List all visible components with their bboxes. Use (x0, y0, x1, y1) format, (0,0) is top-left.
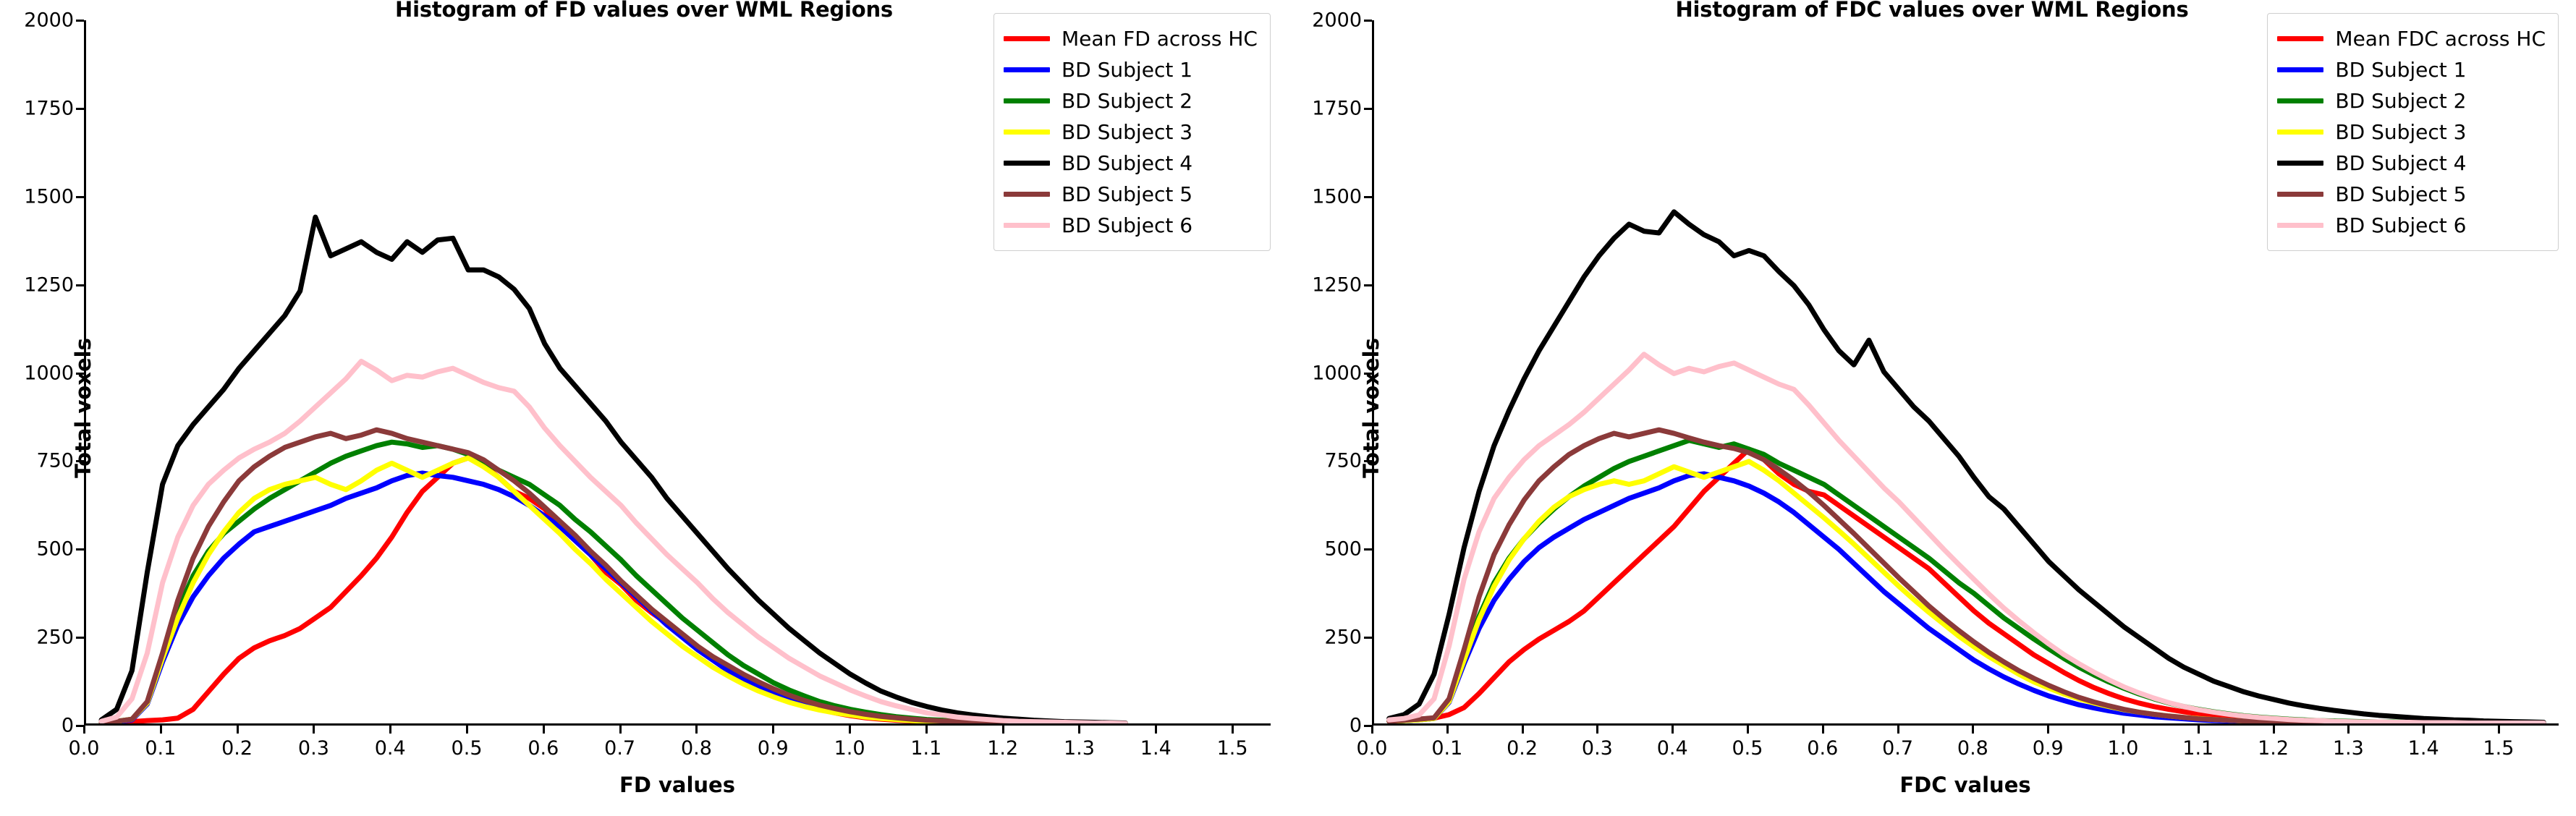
legend-item-label: Mean FDC across HC (2335, 27, 2546, 51)
legend-item[interactable]: BD Subject 6 (2277, 210, 2546, 241)
y-tick-mark (76, 637, 84, 639)
y-tick-mark (76, 196, 84, 198)
legend-swatch-icon (1004, 161, 1050, 166)
y-tick-label: 1250 (1312, 273, 1362, 296)
series-line (1389, 462, 2544, 723)
x-tick-label: 1.1 (910, 737, 941, 760)
x-tick-label: 1.1 (2182, 737, 2213, 760)
series-line (101, 361, 1125, 723)
y-tick-label: 250 (36, 626, 74, 649)
x-tick-label: 0.0 (1357, 737, 1388, 760)
x-tick-label: 0.4 (375, 737, 406, 760)
legend-item[interactable]: BD Subject 3 (2277, 116, 2546, 148)
x-tick-mark (83, 726, 85, 734)
legend-item-label: Mean FD across HC (1062, 27, 1258, 51)
y-tick-mark (1364, 373, 1372, 375)
x-tick-label: 0.5 (452, 737, 483, 760)
y-tick-label: 0 (1350, 715, 1362, 737)
legend-swatch-icon (2277, 129, 2323, 135)
legend-item-label: BD Subject 4 (1062, 151, 1192, 175)
legend-item[interactable]: BD Subject 5 (1004, 179, 1258, 210)
series-line (1389, 212, 2544, 723)
x-tick-mark (1371, 726, 1373, 734)
x-tick-label: 0.8 (681, 737, 712, 760)
legend-swatch-icon (2277, 161, 2323, 166)
y-tick-mark (76, 284, 84, 286)
x-tick-mark (1522, 726, 1524, 734)
x-tick-label: 0.6 (1807, 737, 1838, 760)
y-tick-mark (1364, 20, 1372, 22)
x-tick-mark (466, 726, 468, 734)
x-tick-label: 1.2 (987, 737, 1018, 760)
x-tick-mark (1822, 726, 1824, 734)
legend-item-label: BD Subject 3 (1062, 120, 1192, 144)
y-tick-mark (1364, 460, 1372, 462)
legend-item-label: BD Subject 1 (2335, 58, 2466, 82)
x-tick-mark (2498, 726, 2500, 734)
x-tick-mark (849, 726, 851, 734)
y-tick-mark (76, 108, 84, 110)
legend-item-label: BD Subject 3 (2335, 120, 2466, 144)
x-tick-mark (2273, 726, 2275, 734)
x-tick-mark (1155, 726, 1157, 734)
x-tick-mark (2198, 726, 2200, 734)
x-tick-mark (389, 726, 391, 734)
y-tick-label: 250 (1324, 626, 1362, 649)
y-tick-mark (1364, 196, 1372, 198)
legend-swatch-icon (2277, 223, 2323, 228)
x-tick-mark (1078, 726, 1080, 734)
x-tick-label: 0.3 (1582, 737, 1613, 760)
x-tick-mark (619, 726, 622, 734)
x-tick-label: 1.5 (1217, 737, 1248, 760)
legend-item-label: BD Subject 4 (2335, 151, 2466, 175)
legend-item-label: BD Subject 2 (2335, 89, 2466, 113)
y-tick-label: 1500 (24, 185, 74, 208)
legend-item[interactable]: BD Subject 1 (2277, 54, 2546, 85)
x-tick-mark (2347, 726, 2350, 734)
x-tick-mark (695, 726, 698, 734)
x-tick-mark (1232, 726, 1234, 734)
x-tick-label: 0.7 (1882, 737, 1913, 760)
x-tick-mark (1897, 726, 1899, 734)
x-tick-label: 0.3 (298, 737, 329, 760)
x-tick-label: 0.7 (604, 737, 635, 760)
y-tick-label: 0 (62, 715, 74, 737)
x-tick-label: 1.2 (2258, 737, 2289, 760)
x-tick-label: 1.4 (2408, 737, 2439, 760)
legend-item[interactable]: BD Subject 6 (1004, 210, 1258, 241)
x-tick-mark (1972, 726, 1974, 734)
y-tick-mark (76, 20, 84, 22)
legend-item-label: BD Subject 1 (1062, 58, 1192, 82)
legend-item-label: BD Subject 5 (2335, 182, 2466, 206)
y-tick-label: 500 (1324, 538, 1362, 561)
y-tick-label: 1750 (1312, 97, 1362, 119)
legend-item[interactable]: BD Subject 1 (1004, 54, 1258, 85)
legend-item[interactable]: Mean FD across HC (1004, 23, 1258, 54)
y-tick-mark (76, 373, 84, 375)
x-tick-mark (925, 726, 928, 734)
legend-item-label: BD Subject 6 (1062, 213, 1192, 237)
legend-item[interactable]: BD Subject 4 (1004, 148, 1258, 179)
x-tick-label: 0.4 (1657, 737, 1688, 760)
legend-swatch-icon (1004, 67, 1050, 72)
y-tick-label: 1000 (1312, 362, 1362, 384)
legend-item[interactable]: BD Subject 2 (1004, 85, 1258, 116)
x-axis-label-fdc: FDC values (1372, 773, 2559, 797)
series-line (1389, 354, 2544, 723)
y-tick-label: 750 (36, 450, 74, 472)
y-tick-mark (76, 460, 84, 462)
x-tick-mark (160, 726, 162, 734)
y-tick-label: 1000 (24, 362, 74, 384)
legend-fdc[interactable]: Mean FDC across HCBD Subject 1BD Subject… (2267, 13, 2559, 251)
x-tick-mark (1747, 726, 1749, 734)
x-tick-label: 0.9 (758, 737, 789, 760)
x-tick-label: 1.3 (2333, 737, 2364, 760)
x-axis-label-fd: FD values (84, 773, 1271, 797)
x-tick-label: 0.5 (1732, 737, 1763, 760)
x-tick-label: 0.1 (1431, 737, 1462, 760)
y-tick-label: 2000 (24, 9, 74, 32)
x-tick-label: 1.0 (834, 737, 865, 760)
y-tick-label: 2000 (1312, 9, 1362, 32)
legend-swatch-icon (1004, 192, 1050, 197)
x-tick-label: 1.5 (2483, 737, 2514, 760)
legend-item[interactable]: BD Subject 4 (2277, 148, 2546, 179)
y-tick-label: 1500 (1312, 185, 1362, 208)
y-tick-label: 1250 (24, 273, 74, 296)
x-tick-mark (543, 726, 545, 734)
legend-fd[interactable]: Mean FD across HCBD Subject 1BD Subject … (993, 13, 1271, 251)
x-tick-mark (237, 726, 239, 734)
x-tick-label: 0.6 (528, 737, 559, 760)
series-line (1389, 441, 2544, 723)
y-tick-mark (76, 548, 84, 551)
x-tick-mark (1002, 726, 1004, 734)
x-tick-label: 0.2 (221, 737, 253, 760)
x-tick-mark (2122, 726, 2124, 734)
legend-swatch-icon (1004, 36, 1050, 41)
legend-item[interactable]: BD Subject 2 (2277, 85, 2546, 116)
series-line (101, 430, 1125, 723)
legend-swatch-icon (2277, 192, 2323, 197)
x-tick-mark (772, 726, 774, 734)
series-line (101, 442, 1125, 723)
y-tick-mark (1364, 637, 1372, 639)
y-tick-mark (1364, 548, 1372, 551)
panel-fd: Histogram of FD values over WML Regions … (0, 0, 1288, 816)
legend-swatch-icon (2277, 98, 2323, 103)
legend-swatch-icon (2277, 36, 2323, 41)
y-tick-mark (1364, 108, 1372, 110)
series-line (1389, 430, 2544, 723)
legend-swatch-icon (2277, 67, 2323, 72)
x-tick-mark (313, 726, 315, 734)
x-tick-label: 1.3 (1064, 737, 1095, 760)
legend-item[interactable]: BD Subject 3 (1004, 116, 1258, 148)
x-tick-label: 1.4 (1140, 737, 1172, 760)
legend-item-label: BD Subject 2 (1062, 89, 1192, 113)
x-tick-label: 1.0 (2107, 737, 2138, 760)
x-tick-label: 0.1 (145, 737, 176, 760)
x-tick-mark (1672, 726, 1674, 734)
legend-item[interactable]: BD Subject 5 (2277, 179, 2546, 210)
legend-swatch-icon (1004, 129, 1050, 135)
legend-item-label: BD Subject 6 (2335, 213, 2466, 237)
legend-item-label: BD Subject 5 (1062, 182, 1192, 206)
x-tick-label: 0.2 (1507, 737, 1538, 760)
x-tick-mark (1446, 726, 1449, 734)
y-tick-label: 750 (1324, 450, 1362, 472)
legend-swatch-icon (1004, 98, 1050, 103)
y-tick-label: 500 (36, 538, 74, 561)
x-tick-label: 0.8 (1957, 737, 1988, 760)
x-tick-mark (1596, 726, 1598, 734)
series-line (1389, 474, 2544, 723)
x-tick-mark (2047, 726, 2049, 734)
x-tick-label: 0.9 (2033, 737, 2064, 760)
figure-canvas: Histogram of FD values over WML Regions … (0, 0, 2576, 816)
x-tick-label: 0.0 (69, 737, 100, 760)
y-tick-label: 1750 (24, 97, 74, 119)
legend-swatch-icon (1004, 223, 1050, 228)
x-tick-mark (2423, 726, 2425, 734)
panel-fdc: Histogram of FDC values over WML Regions… (1288, 0, 2576, 816)
legend-item[interactable]: Mean FDC across HC (2277, 23, 2546, 54)
y-tick-mark (1364, 284, 1372, 286)
